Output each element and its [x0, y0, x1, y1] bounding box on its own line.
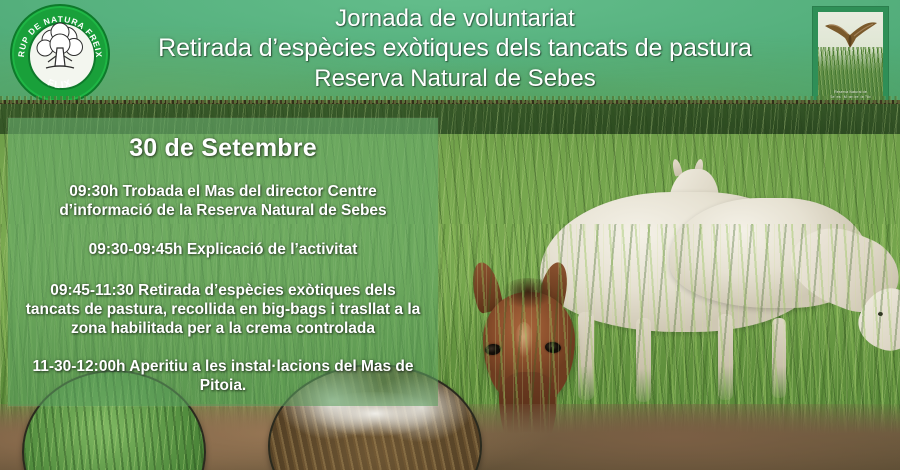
title-line-3: Reserva Natural de Sebes [110, 62, 800, 92]
title-line-2: Retirada d’espècies exòtiques dels tanca… [110, 32, 800, 62]
schedule-item-3: 09:45-11:30 Retirada d’espècies exòtique… [22, 282, 424, 339]
event-date: 30 de Setembre [22, 134, 424, 163]
title-line-1: Jornada de voluntariat [110, 2, 800, 32]
schedule-panel: 30 de Setembre 09:30h Trobada el Mas del… [8, 118, 438, 406]
reserva-natural-sebes-logo: Reserva Natural de Sebes i Meandre de Fl… [812, 6, 889, 108]
svg-text:FLIX: FLIX [46, 77, 74, 91]
grup-de-natura-freixe-logo: GRUP DE NATURA FREIXE FLIX [10, 4, 110, 104]
poster-title-block: Jornada de voluntariat Retirada d’espèci… [110, 2, 800, 92]
schedule-item-2: 09:30-09:45h Explicació de l’activitat [22, 241, 424, 260]
poster: GRUP DE NATURA FREIXE FLIX Jornada de vo… [0, 0, 900, 470]
logo-bottom-text: FLIX [46, 77, 74, 91]
schedule-item-4: 11-30-12:00h Aperitiu a les instal·lacio… [22, 358, 424, 396]
tree-icon: GRUP DE NATURA FREIXE FLIX [10, 4, 110, 104]
poster-header: GRUP DE NATURA FREIXE FLIX Jornada de vo… [0, 0, 900, 112]
schedule-item-1: 09:30h Trobada el Mas del director Centr… [22, 183, 424, 221]
